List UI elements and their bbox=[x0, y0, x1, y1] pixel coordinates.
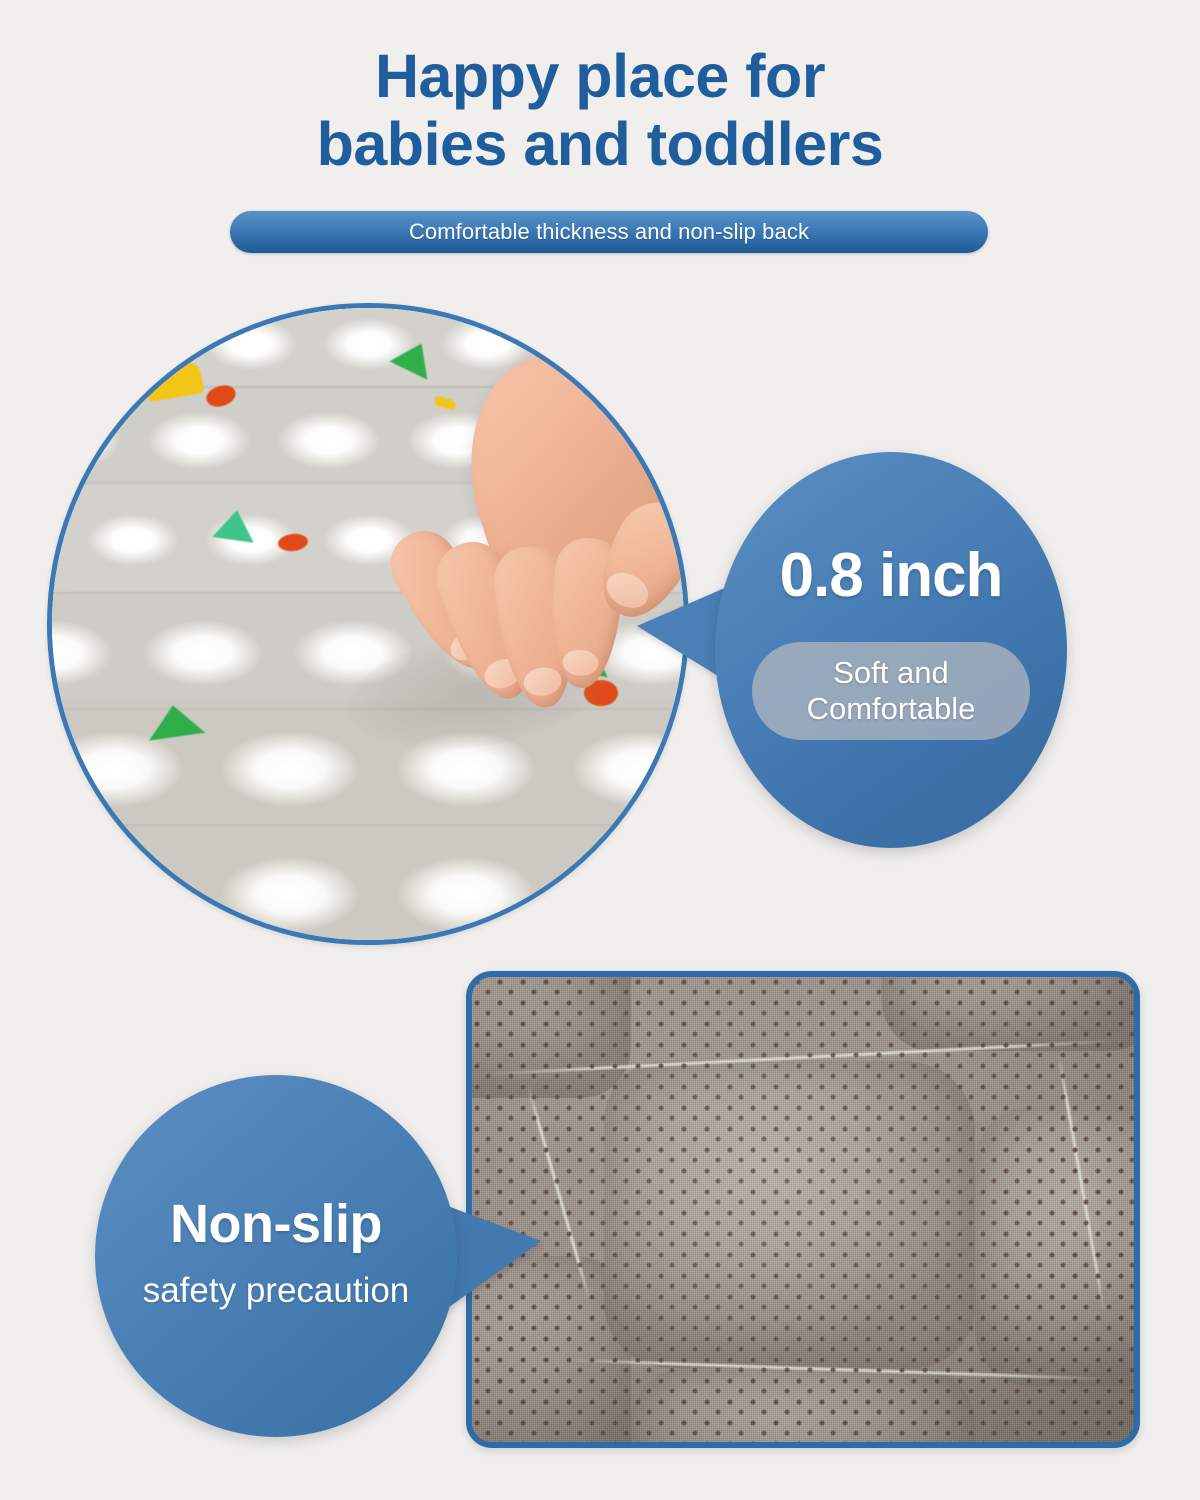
thickness-badge-line1: Soft and bbox=[833, 655, 948, 691]
thickness-badge-line2: Comfortable bbox=[807, 691, 976, 727]
nonslip-backing-photo bbox=[466, 971, 1140, 1448]
quilt-seam bbox=[47, 824, 689, 826]
page-title: Happy place for babies and toddlers bbox=[0, 42, 1200, 179]
thickness-callout: 0.8 inch Soft and Comfortable bbox=[715, 452, 1067, 848]
subtitle-banner: Comfortable thickness and non-slip back bbox=[230, 211, 988, 253]
quilted-fabric-texture bbox=[47, 303, 689, 945]
quilt-seam bbox=[47, 482, 689, 484]
mattress-press-photo bbox=[47, 303, 689, 945]
thickness-value: 0.8 inch bbox=[715, 540, 1067, 611]
photo-vignette bbox=[472, 977, 1134, 1442]
nonslip-subtitle: safety precaution bbox=[95, 1271, 457, 1311]
subtitle-text: Comfortable thickness and non-slip back bbox=[409, 219, 809, 245]
nonslip-callout: Non-slip safety precaution bbox=[95, 1075, 457, 1437]
felt-applique-tree bbox=[212, 507, 258, 543]
thickness-badge: Soft and Comfortable bbox=[752, 642, 1030, 740]
nonslip-title: Non-slip bbox=[95, 1193, 457, 1255]
product-infographic: Happy place for babies and toddlers Comf… bbox=[0, 0, 1200, 1500]
quilt-row bbox=[47, 482, 689, 598]
quilt-seam bbox=[47, 592, 689, 594]
page-title-line1: Happy place for bbox=[0, 42, 1200, 110]
quilt-row bbox=[47, 386, 689, 495]
quilt-row bbox=[47, 817, 689, 945]
callout-disc bbox=[95, 1075, 457, 1437]
page-title-line2: babies and toddlers bbox=[0, 110, 1200, 178]
